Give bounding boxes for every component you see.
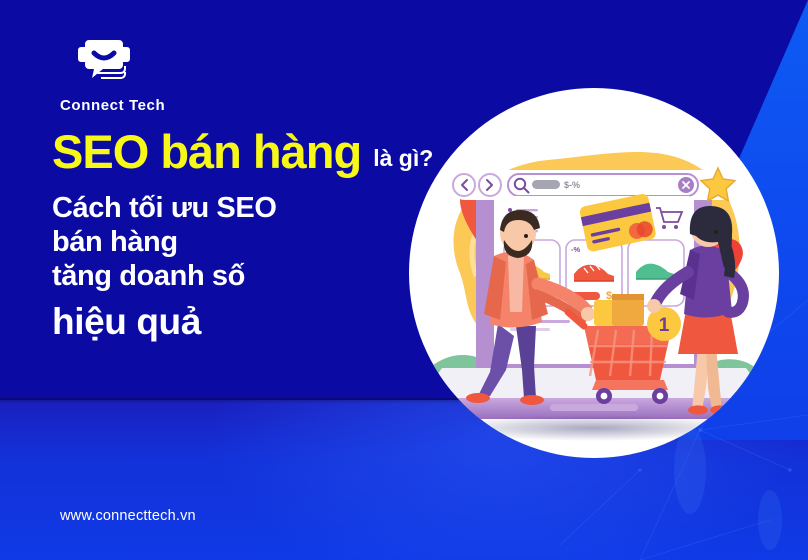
page-title: SEO bán hàng bbox=[52, 128, 361, 175]
search-value-text: $-% bbox=[564, 180, 580, 190]
search-placeholder-pill bbox=[532, 180, 560, 189]
discount-badge-text: -% bbox=[571, 245, 580, 254]
laptop-trackpad bbox=[550, 404, 638, 411]
seo-banner: Connect Tech SEO bán hàng là gì? Cách tố… bbox=[0, 0, 808, 560]
chat-bubble-smile-icon bbox=[75, 38, 133, 90]
cart-count-text: 1 bbox=[659, 315, 670, 336]
website-url[interactable]: www.connecttech.vn bbox=[60, 508, 196, 524]
brand-logo[interactable]: Connect Tech bbox=[60, 38, 250, 114]
chevron-left-icon bbox=[453, 174, 475, 196]
chevron-right-icon bbox=[479, 174, 501, 196]
laptop-shadow bbox=[444, 415, 744, 441]
brand-name: Connect Tech bbox=[60, 97, 250, 114]
illustration-svg: $-% bbox=[398, 88, 790, 458]
ecommerce-illustration: $-% bbox=[398, 88, 790, 458]
browser-toolbar: $-% bbox=[450, 168, 736, 201]
